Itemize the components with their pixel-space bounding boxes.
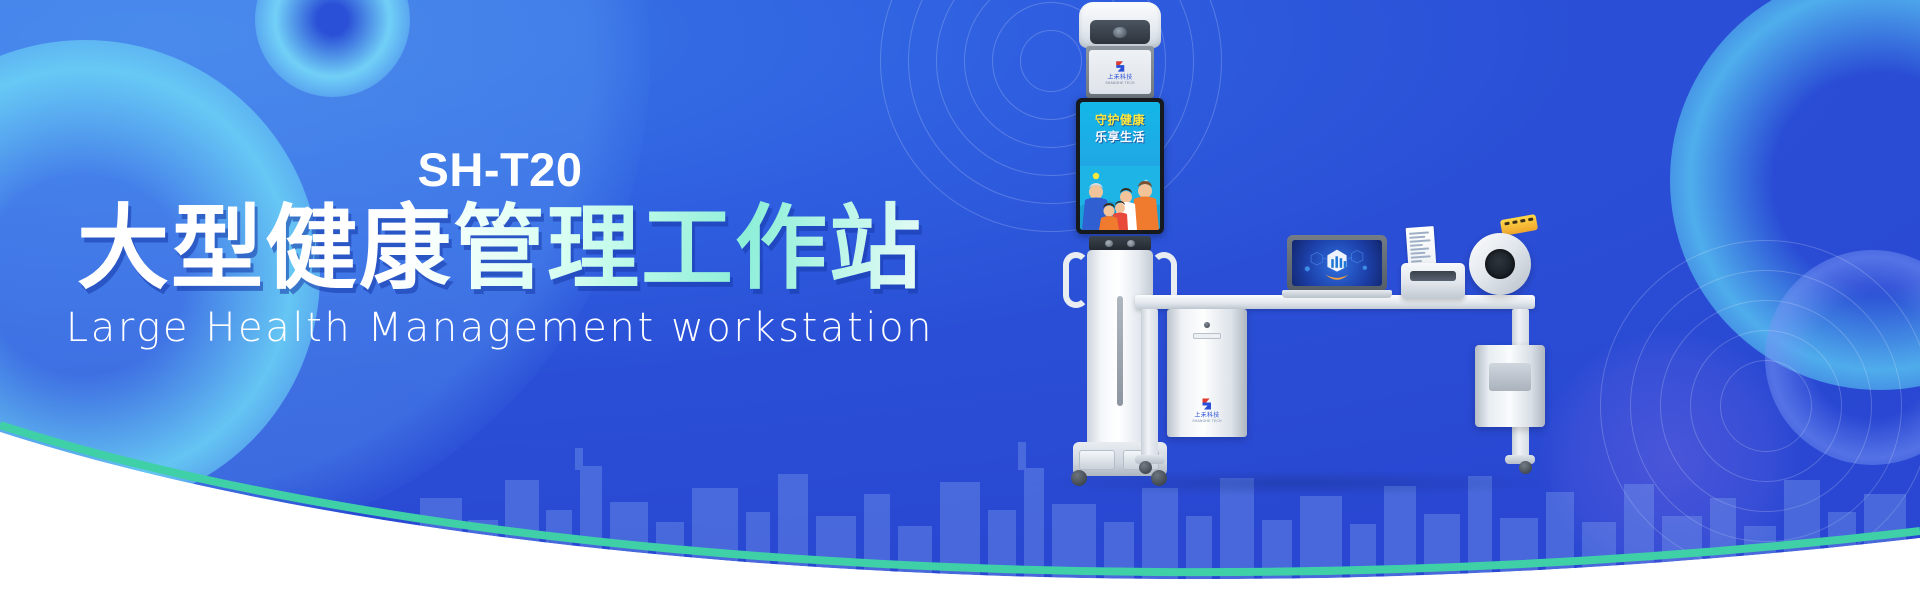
kiosk-ad-screen[interactable]: 守护健康 乐享生活 <box>1076 98 1164 234</box>
kiosk-hand-sensor <box>1089 236 1151 251</box>
laptop-keyboard-base <box>1282 290 1392 298</box>
desk-caster-right <box>1519 461 1532 474</box>
camera-lens-icon <box>1113 27 1127 38</box>
kiosk-brand-plate: 上禾科技 SHANGHE TECH <box>1089 50 1151 94</box>
report-printer <box>1401 263 1465 299</box>
cabinet-brand-name: 上禾科技 <box>1194 413 1219 419</box>
kiosk-ad-line-2: 乐享生活 <box>1080 128 1160 145</box>
kiosk-handle-left <box>1063 252 1089 308</box>
desk-laptop[interactable] <box>1287 235 1387 299</box>
desk-cabinet: 上禾科技 SHANGHE TECH <box>1167 309 1247 437</box>
kiosk-brand-pinyin: SHANGHE TECH <box>1105 82 1134 85</box>
blood-pressure-monitor <box>1461 227 1539 303</box>
cabinet-brand-pinyin: SHANGHE TECH <box>1192 420 1221 423</box>
company-logo-icon <box>1113 59 1128 74</box>
company-logo-icon <box>1199 396 1215 412</box>
family-illustration-icon <box>1080 166 1160 230</box>
cabinet-card-slot <box>1193 333 1221 339</box>
kiosk-ad-line-1: 守护健康 <box>1080 111 1160 128</box>
banner-copy: SH-T20 大型健康管理工作站 Large Health Management… <box>0 0 1060 600</box>
kiosk-caster-left <box>1071 470 1087 486</box>
workstation-desk: 上禾科技 SHANGHE TECH <box>1135 285 1555 485</box>
model-code: SH-T20 <box>0 142 1000 197</box>
cabinet-brand-block: 上禾科技 SHANGHE TECH <box>1167 396 1247 423</box>
desk-leg-left <box>1141 309 1158 459</box>
product-hero-banner: SH-T20 大型健康管理工作站 Large Health Management… <box>0 0 1920 600</box>
product-illustration: 上禾科技 SHANGHE TECH 守护健康 乐享生活 <box>1010 0 1570 600</box>
printed-report-paper <box>1406 226 1437 268</box>
cabinet-indicator-icon <box>1204 322 1210 328</box>
health-shield-icon <box>1292 240 1382 286</box>
kiosk-footpad-left <box>1079 450 1115 470</box>
desk-caster-left <box>1139 461 1152 474</box>
page-title: 大型健康管理工作站 <box>0 200 1000 298</box>
page-subtitle: Large Health Management workstation <box>0 305 1000 351</box>
kiosk-brand-name: 上禾科技 <box>1107 75 1132 81</box>
auxiliary-device-unit <box>1475 345 1545 427</box>
kiosk-height-sensor-head <box>1079 2 1161 48</box>
bpm-arm-cuff <box>1469 233 1531 295</box>
